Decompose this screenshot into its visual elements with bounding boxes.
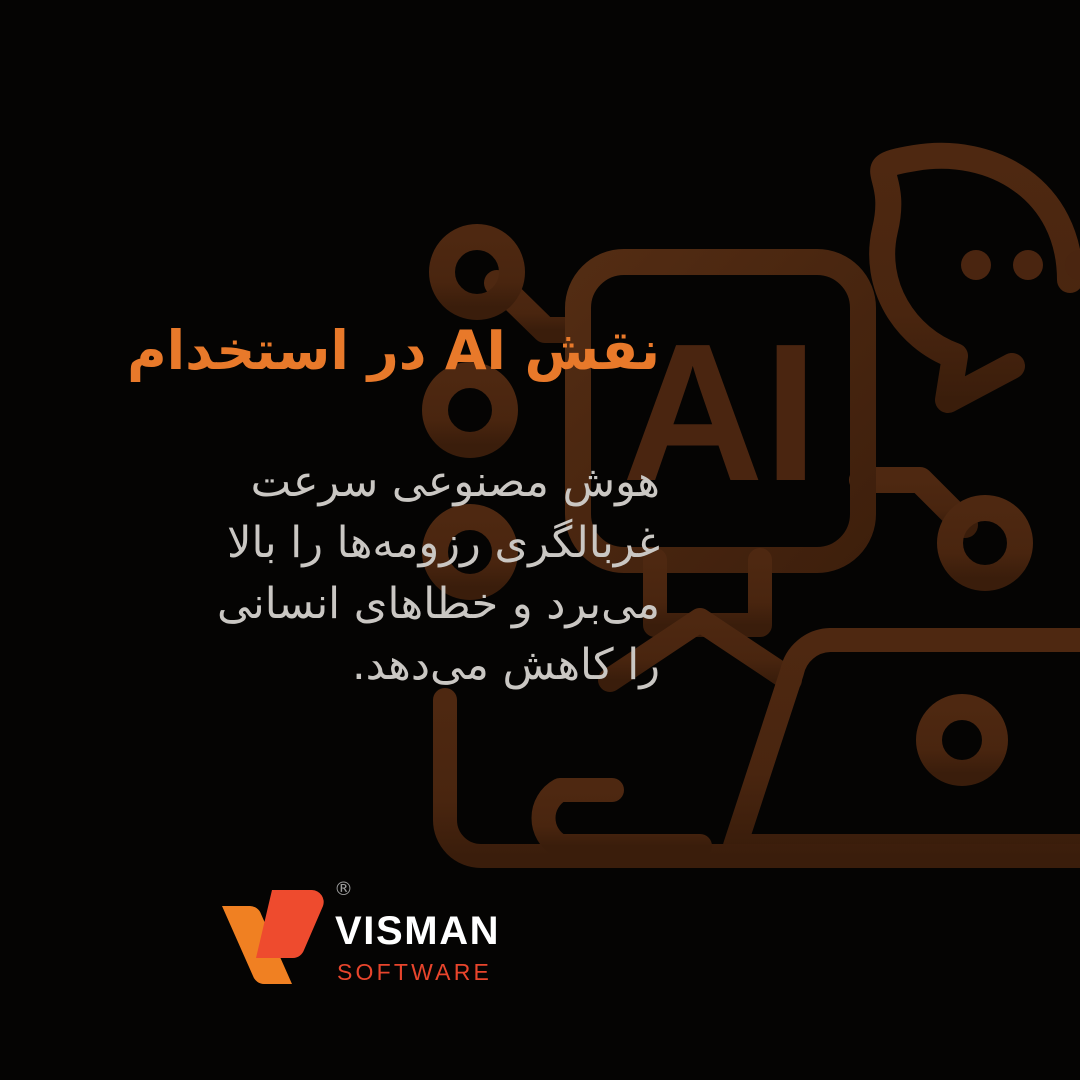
chat-dot-icon (961, 250, 991, 280)
circuit-node-icon (950, 508, 1020, 578)
body-line: می‌برد و خطاهای انسانی (0, 574, 660, 635)
registered-trademark-icon: ® (334, 880, 353, 899)
circuit-node-icon (435, 375, 505, 445)
visman-v-mark-icon (216, 888, 328, 986)
circuit-trace-icon (862, 480, 965, 525)
brand-tagline: SOFTWARE (337, 961, 492, 984)
brand-name: VISMAN (335, 911, 500, 951)
chat-bubble-icon (882, 156, 1080, 400)
body-line: غربالگری رزومه‌ها را بالا (0, 513, 660, 574)
v-right-stroke (256, 890, 324, 958)
circuit-node-icon (442, 237, 512, 307)
brand-logo[interactable]: ® VISMAN SOFTWARE (216, 878, 516, 988)
page-title: نقش AI در استخدام (0, 318, 660, 384)
social-post-card: AI نقش AI در استخدام هوش مصنوعی سرعت غرب… (0, 0, 1080, 1080)
chat-dot-icon (1065, 250, 1080, 280)
chat-dot-icon (1013, 250, 1043, 280)
body-paragraph: هوش مصنوعی سرعت غربالگری رزومه‌ها را بال… (0, 452, 660, 696)
circuit-node-icon (929, 707, 995, 773)
body-line: هوش مصنوعی سرعت (0, 452, 660, 513)
chat-bubble-outline (882, 156, 1070, 400)
body-line: را کاهش می‌دهد. (0, 635, 660, 696)
